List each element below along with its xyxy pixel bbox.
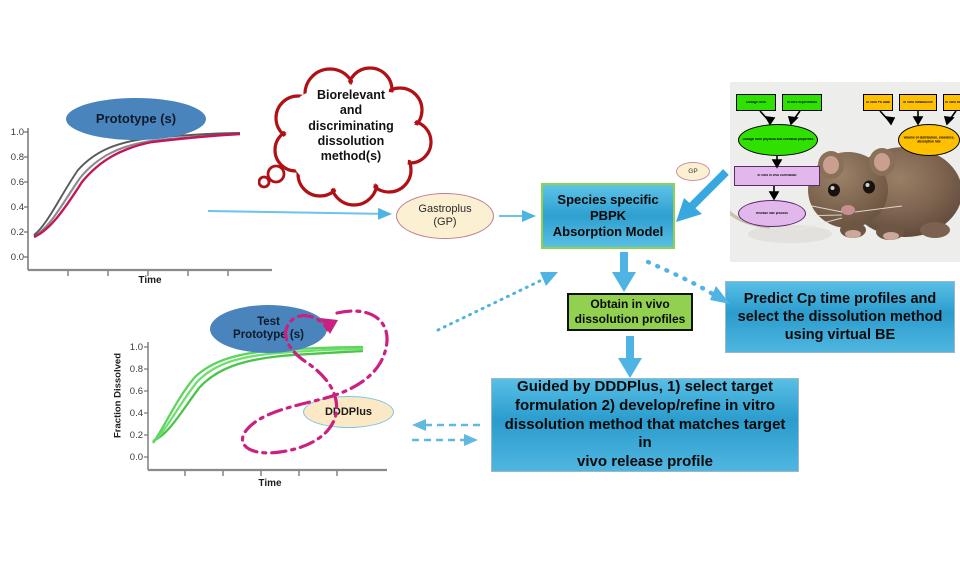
dddplus-guidance-line-4: vivo release profile	[577, 453, 713, 472]
thought-line-4: dissolution	[278, 134, 424, 149]
thought-line-5: method(s)	[278, 149, 424, 164]
bottom-chart-xlabel: Time	[200, 478, 340, 489]
test-prototype-line-1: Test	[257, 316, 280, 329]
schematic-connectors	[730, 82, 960, 262]
arrow-pbpk-to-obtain-invivo	[612, 252, 636, 292]
dddplus-guidance-line-2: formulation 2) develop/refine in vitro	[515, 397, 775, 416]
arrow-guidance-to-dddplus-left	[412, 419, 480, 431]
species-pbpk-schematic-with-rat-photo: Dosage form In vitro experiments Dosage …	[730, 82, 960, 262]
top-chart-xlabel: Time	[80, 275, 220, 286]
arrow-dddplus-to-guidance-right	[412, 434, 478, 446]
test-prototype-line-2: Prototype (s)	[233, 329, 304, 342]
dddplus-guidance-box: Guided by DDDPlus, 1) select target form…	[491, 378, 799, 472]
gastroplus-label-line2: (GP)	[433, 216, 456, 229]
gp-small-ellipse: GP	[676, 162, 710, 181]
predict-cp-line-3: using virtual BE	[785, 326, 895, 344]
prototype-ellipse: Prototype (s)	[66, 98, 206, 140]
dddplus-guidance-line-3: dissolution method that matches target i…	[497, 416, 793, 454]
dddplus-ellipse: DDDPlus	[303, 396, 394, 428]
top-dissolution-chart: 1.0 0.8 0.6 0.4 0.2 0.0 Time	[0, 120, 280, 290]
gp-small-label: GP	[688, 168, 697, 175]
prototype-ellipse-label: Prototype (s)	[96, 112, 176, 127]
predict-cp-line-2: select the dissolution method	[738, 308, 943, 326]
pbpk-absorption-model-box: Species specific PBPK Absorption Model	[541, 183, 675, 249]
predict-cp-line-1: Predict Cp time profiles and	[744, 290, 937, 308]
obtain-in-vivo-line-1: Obtain in vivo	[590, 297, 669, 312]
dddplus-label: DDDPlus	[325, 406, 372, 419]
obtain-in-vivo-dissolution-box: Obtain in vivo dissolution profiles	[567, 293, 693, 331]
pbpk-line-3: Absorption Model	[553, 224, 664, 240]
thought-bubble-text: Biorelevant and discriminating dissoluti…	[278, 88, 424, 164]
figure-canvas: 1.0 0.8 0.6 0.4 0.2 0.0 Time Protot	[0, 0, 960, 576]
test-prototype-ellipse: Test Prototype (s)	[210, 305, 327, 353]
arrow-bottom-chart-to-obtain-invivo	[438, 272, 558, 330]
arrow-obtain-invivo-to-guidance	[618, 336, 642, 378]
obtain-in-vivo-line-2: dissolution profiles	[575, 312, 686, 327]
thought-line-1: Biorelevant	[278, 88, 424, 103]
gastroplus-label-line1: Gastroplus	[418, 203, 471, 216]
pbpk-line-1: Species specific	[557, 192, 658, 208]
thought-line-2: and	[278, 103, 424, 118]
biorelevant-thought-bubble: Biorelevant and discriminating dissoluti…	[258, 62, 444, 212]
top-chart-plot	[0, 120, 280, 290]
thought-line-3: discriminating	[278, 119, 424, 134]
predict-cp-box: Predict Cp time profiles and select the …	[725, 281, 955, 353]
gastroplus-ellipse: Gastroplus (GP)	[396, 193, 494, 239]
dddplus-guidance-line-1: Guided by DDDPlus, 1) select target	[517, 378, 773, 397]
pbpk-line-2: PBPK	[590, 208, 626, 224]
